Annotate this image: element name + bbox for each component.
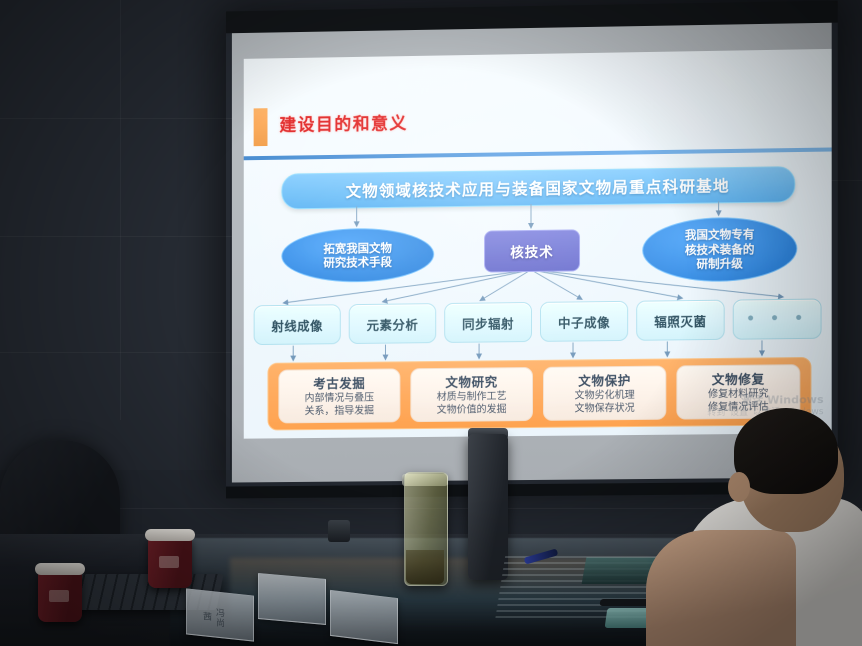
application-heading: 文物修复 — [712, 369, 765, 389]
node-line: 拓宽我国文物 — [323, 240, 391, 255]
application-line: 材质与制作工艺 — [437, 391, 507, 404]
node-line: 研制升级 — [696, 256, 742, 271]
node-line: 核技术装备的 — [685, 242, 754, 257]
technique-box-neutron-imaging: 中子成像 — [540, 301, 628, 342]
person-shoulder — [646, 530, 796, 646]
node-dedicated-equipment-upgrade: 我国文物专有 核技术装备的 研制升级 — [642, 216, 797, 282]
wall-seam — [120, 0, 121, 420]
wall-seam — [0, 236, 232, 237]
presentation-slide: 建设目的和意义 文物领域核技术应用与装备国家文物局重点科研基地 — [244, 49, 832, 439]
paper-cup-right — [148, 536, 192, 588]
nameplate — [330, 590, 398, 644]
node-nuclear-technology: 核技术 — [484, 229, 580, 272]
cup-logo — [49, 590, 69, 602]
title-divider — [244, 147, 832, 160]
application-line: 内部情况与叠压 — [305, 393, 374, 406]
attendee-person — [662, 416, 862, 646]
application-box-relic-protection: 文物保护 文物劣化机理 文物保存状况 — [543, 366, 666, 421]
nameplate-text — [358, 606, 370, 633]
technique-box-xray-imaging: 射线成像 — [254, 304, 341, 345]
paper-cup-left — [38, 570, 82, 622]
nameplate-text — [286, 588, 298, 615]
application-heading: 考古发掘 — [313, 373, 365, 392]
node-line: 研究技术手段 — [323, 255, 391, 270]
nameplate-text: 冯尚茜 — [214, 604, 226, 631]
technique-box-irradiation-sterilization: 辐照灭菌 — [636, 300, 724, 341]
application-box-archaeology: 考古发掘 内部情况与叠压 关系，指导发掘 — [278, 368, 400, 423]
person-ear — [728, 472, 750, 502]
wall-panel-left — [0, 0, 230, 500]
person-hair — [734, 408, 838, 494]
conference-speaker — [328, 520, 350, 542]
nameplate — [258, 573, 326, 625]
application-line: 文物保存状况 — [575, 403, 635, 416]
technique-box-ellipsis: • • • — [733, 299, 822, 340]
node-line: 我国文物专有 — [685, 227, 754, 242]
node-broaden-research-methods: 拓宽我国文物 研究技术手段 — [281, 227, 434, 283]
diagram-header-node: 文物领域核技术应用与装备国家文物局重点科研基地 — [281, 166, 795, 209]
thermos-bottle — [468, 434, 508, 580]
application-line: 文物劣化机理 — [575, 390, 635, 403]
application-heading: 文物保护 — [578, 370, 631, 390]
application-line: 关系，指导发掘 — [305, 406, 374, 419]
application-box-relic-research: 文物研究 材质与制作工艺 文物价值的发掘 — [410, 367, 533, 422]
wall-seam — [0, 352, 232, 353]
cup-logo — [159, 556, 179, 568]
tea-leaves — [406, 550, 444, 584]
technique-box-element-analysis: 元素分析 — [349, 303, 436, 344]
conference-room-photo: 建设目的和意义 文物领域核技术应用与装备国家文物局重点科研基地 — [0, 0, 862, 646]
technique-row: 射线成像 元素分析 同步辐射 中子成像 辐照灭菌 • • • — [254, 299, 822, 346]
technique-box-synchrotron: 同步辐射 — [444, 302, 532, 343]
wall-seam — [0, 118, 232, 119]
page-title: 建设目的和意义 — [279, 109, 407, 136]
title-accent-bar — [254, 108, 268, 146]
application-line: 文物价值的发掘 — [437, 404, 507, 417]
nameplate: 冯尚茜 — [186, 588, 254, 641]
screen-surface: 建设目的和意义 文物领域核技术应用与装备国家文物局重点科研基地 — [232, 23, 832, 483]
application-heading: 文物研究 — [445, 372, 497, 392]
watermark-line-1: 激活 Windows — [707, 393, 823, 408]
